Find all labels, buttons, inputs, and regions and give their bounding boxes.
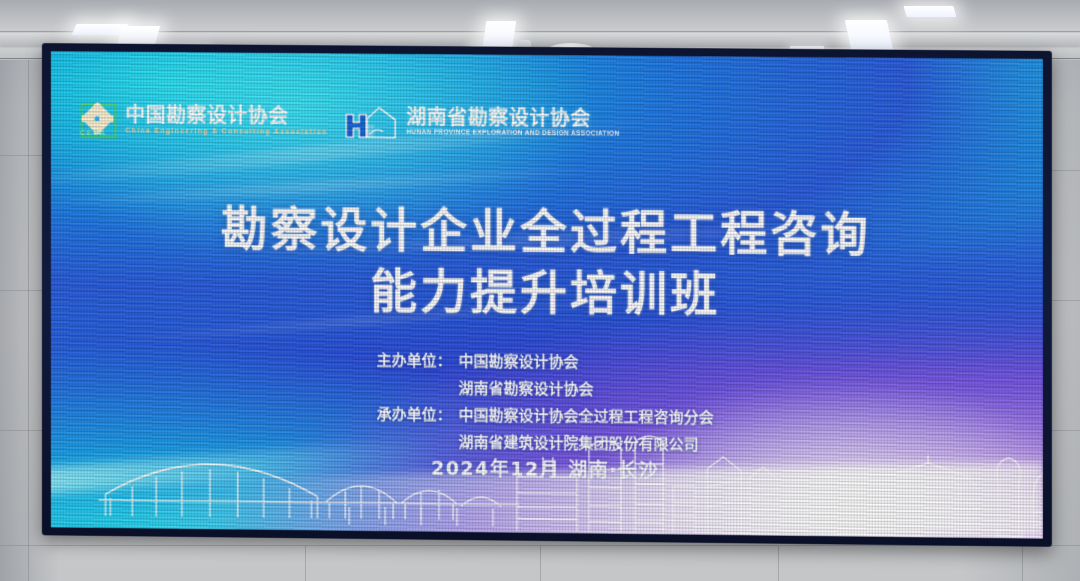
organizer-label: 主办单位： — [377, 349, 459, 371]
conference-room-scene: CECA 中国勘察设计协会 China Engineering & Consul… — [0, 0, 1080, 581]
wall-seam — [305, 546, 306, 581]
organizer-value: 中国勘察设计协会 — [459, 350, 579, 372]
organizer-row: 主办单位： 中国勘察设计协会 — [377, 349, 714, 373]
wall-seam — [28, 60, 29, 581]
wall-seam — [0, 430, 44, 431]
organizer-row: 主办单位： 湖南省勘察设计协会 — [377, 376, 714, 400]
wall-seam — [0, 290, 44, 291]
wall-seam — [778, 546, 779, 581]
logo-ceca-name-cn: 中国勘察设计协会 — [125, 105, 327, 127]
logo-ceca-name-en: China Engineering & Consulting Associati… — [125, 127, 327, 136]
hunan-building-icon — [346, 104, 398, 138]
slide-logo-row: CECA 中国勘察设计协会 China Engineering & Consul… — [79, 101, 620, 141]
ceiling-light-panel — [903, 6, 956, 17]
led-video-wall-bezel: CECA 中国勘察设计协会 China Engineering & Consul… — [42, 43, 1052, 547]
slide-title-line-2: 能力提升培训班 — [51, 258, 1043, 330]
wall-seam — [0, 155, 44, 156]
led-video-wall-screen: CECA 中国勘察设计协会 China Engineering & Consul… — [51, 51, 1043, 539]
logo-ceca: CECA 中国勘察设计协会 China Engineering & Consul… — [79, 101, 328, 139]
ceca-mark-caption: CECA — [80, 128, 106, 137]
slide-content: CECA 中国勘察设计协会 China Engineering & Consul… — [51, 51, 1043, 539]
logo-hunan-name-cn: 湖南省勘察设计协会 — [406, 108, 619, 130]
ceca-diamond-icon: CECA — [79, 101, 117, 137]
wall-seam — [540, 546, 541, 581]
ceiling-seam — [0, 31, 1080, 32]
ceiling-light-panel — [845, 20, 893, 50]
slide-title-line-1: 勘察设计企业全过程工程咨询 — [51, 199, 1043, 268]
logo-hunan: 湖南省勘察设计协会 HUNAN PROVINCE EXPLORATION AND… — [346, 104, 620, 140]
organizer-value: 湖南省勘察设计协会 — [459, 377, 594, 399]
logo-hunan-name-en: HUNAN PROVINCE EXPLORATION AND DESIGN AS… — [406, 130, 619, 138]
slide-title: 勘察设计企业全过程工程咨询 能力提升培训班 — [51, 199, 1043, 330]
